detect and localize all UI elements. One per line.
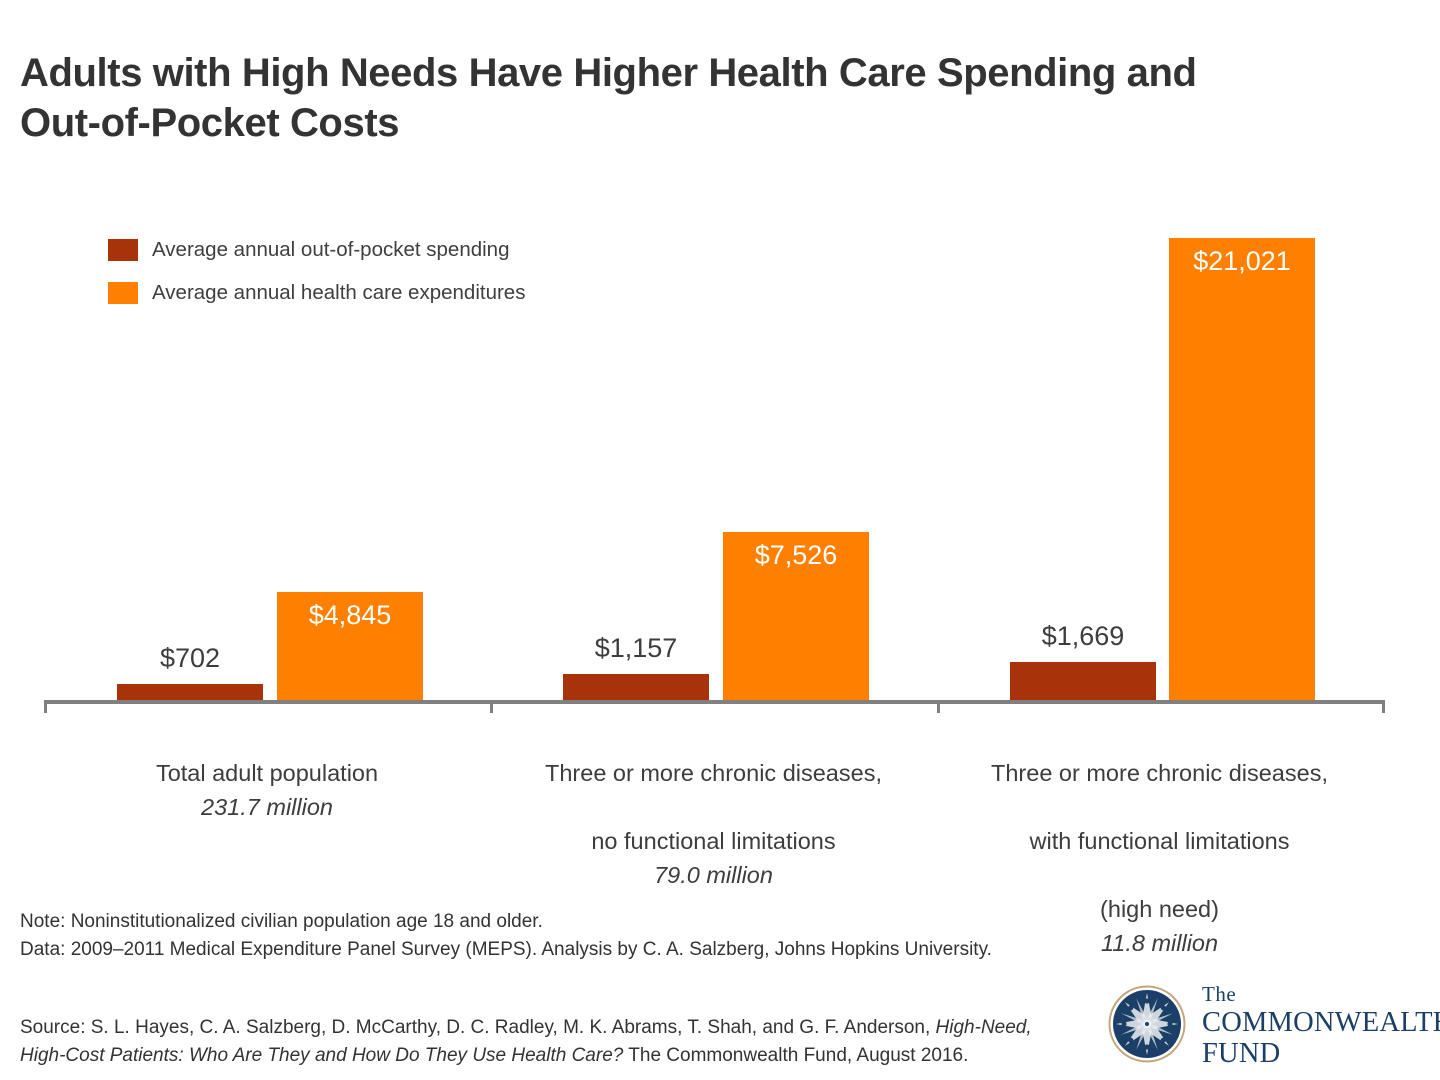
bar-expenditures[interactable]: $4,845 [277, 592, 423, 700]
category-name-line-2: with functional limitations [1030, 828, 1290, 854]
category-name-line-2: no functional limitations [591, 828, 835, 854]
logo-the-text: The [1202, 984, 1440, 1005]
category-label-chronic-with-limitations: Three or more chronic diseases, with fun… [937, 722, 1382, 995]
source-suffix: The Commonwealth Fund, August 2016. [623, 1045, 968, 1066]
source-citation: Source: S. L. Hayes, C. A. Salzberg, D. … [20, 1014, 1080, 1070]
category-name-line-1: Three or more chronic diseases, [545, 760, 882, 786]
category-label-total-adult-population: Total adult population 231.7 million [44, 722, 490, 858]
category-label-chronic-no-limitations: Three or more chronic diseases, no funct… [490, 722, 937, 926]
bar-value-label: $702 [117, 645, 263, 672]
category-name-line-1: Three or more chronic diseases, [991, 760, 1328, 786]
commonwealth-fund-seal-icon [1108, 985, 1186, 1068]
note-line: Note: Noninstitutionalized civilian popu… [20, 908, 992, 936]
category-name-line-3: (high need) [1100, 896, 1219, 922]
x-axis-line [44, 700, 1385, 704]
commonwealth-fund-logo: The COMMONWEALTH FUND [1108, 983, 1428, 1069]
commonwealth-fund-wordmark: The COMMONWEALTH FUND [1202, 984, 1440, 1069]
logo-fund-text: FUND [1202, 1040, 1440, 1069]
bar-value-label: $1,669 [1010, 623, 1156, 650]
logo-commonwealth-text: COMMONWEALTH [1202, 1009, 1440, 1038]
axis-tick-group-divider [937, 700, 940, 713]
bar-expenditures[interactable]: $21,021 [1169, 238, 1315, 700]
category-name: Total adult population [156, 760, 378, 786]
bar-group-chronic-no-limitations: $1,157 $7,526 [490, 0, 937, 700]
bar-value-label: $21,021 [1169, 248, 1315, 275]
axis-tick-group-divider [1382, 700, 1385, 713]
category-population-count: 11.8 million [937, 926, 1382, 960]
bar-chart-plot-area: $702 $4,845 $1,157 $7,526 $1,669 $21,021… [0, 0, 1440, 712]
data-source-line: Data: 2009–2011 Medical Expenditure Pane… [20, 936, 992, 964]
axis-tick-group-divider [490, 700, 493, 713]
category-population-count: 79.0 million [490, 858, 937, 892]
bar-group-chronic-with-limitations: $1,669 $21,021 [937, 0, 1382, 700]
bar-out-of-pocket[interactable] [563, 674, 709, 700]
category-population-count: 231.7 million [44, 790, 490, 824]
chart-notes: Note: Noninstitutionalized civilian popu… [20, 908, 992, 964]
bar-value-label: $7,526 [723, 542, 869, 569]
bar-out-of-pocket[interactable] [1010, 662, 1156, 700]
axis-tick-group-divider [44, 700, 47, 713]
bar-group-total-adult-population: $702 $4,845 [44, 0, 490, 700]
source-prefix: Source: S. L. Hayes, C. A. Salzberg, D. … [20, 1017, 936, 1038]
bar-value-label: $1,157 [563, 635, 709, 662]
bar-out-of-pocket[interactable] [117, 684, 263, 700]
bar-expenditures[interactable]: $7,526 [723, 532, 869, 700]
bar-value-label: $4,845 [277, 602, 423, 629]
